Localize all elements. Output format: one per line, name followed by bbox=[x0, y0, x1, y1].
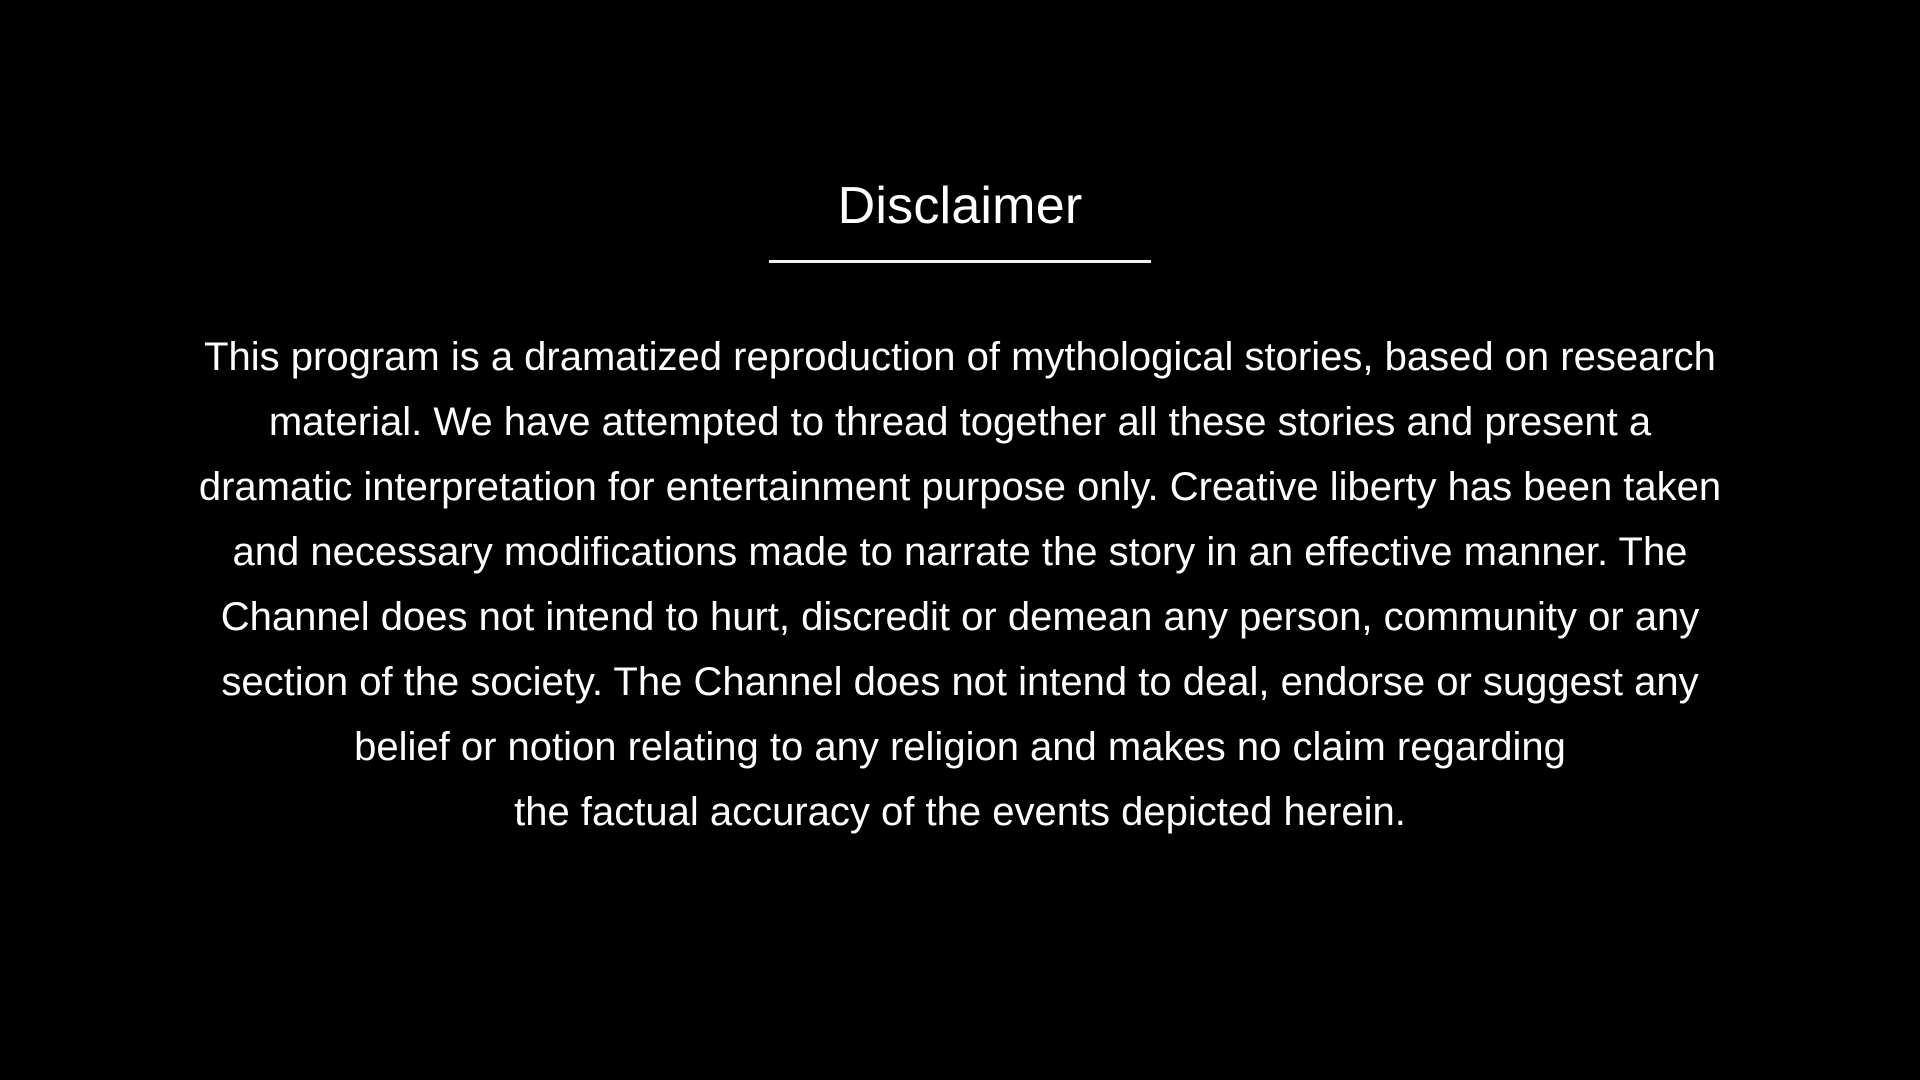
body-line: This program is a dramatized reproductio… bbox=[110, 325, 1810, 390]
title-underline-rule bbox=[769, 260, 1151, 263]
disclaimer-body: This program is a dramatized reproductio… bbox=[110, 325, 1810, 845]
disclaimer-slide: Disclaimer This program is a dramatized … bbox=[0, 0, 1920, 1080]
body-line: Channel does not intend to hurt, discred… bbox=[110, 585, 1810, 650]
body-line: belief or notion relating to any religio… bbox=[110, 715, 1810, 780]
body-line: material. We have attempted to thread to… bbox=[110, 390, 1810, 455]
body-line: and necessary modifications made to narr… bbox=[110, 520, 1810, 585]
body-line: dramatic interpretation for entertainmen… bbox=[110, 455, 1810, 520]
body-line: the factual accuracy of the events depic… bbox=[110, 780, 1810, 845]
title-block: Disclaimer bbox=[0, 176, 1920, 263]
body-line: section of the society. The Channel does… bbox=[110, 650, 1810, 715]
page-title: Disclaimer bbox=[0, 176, 1920, 236]
